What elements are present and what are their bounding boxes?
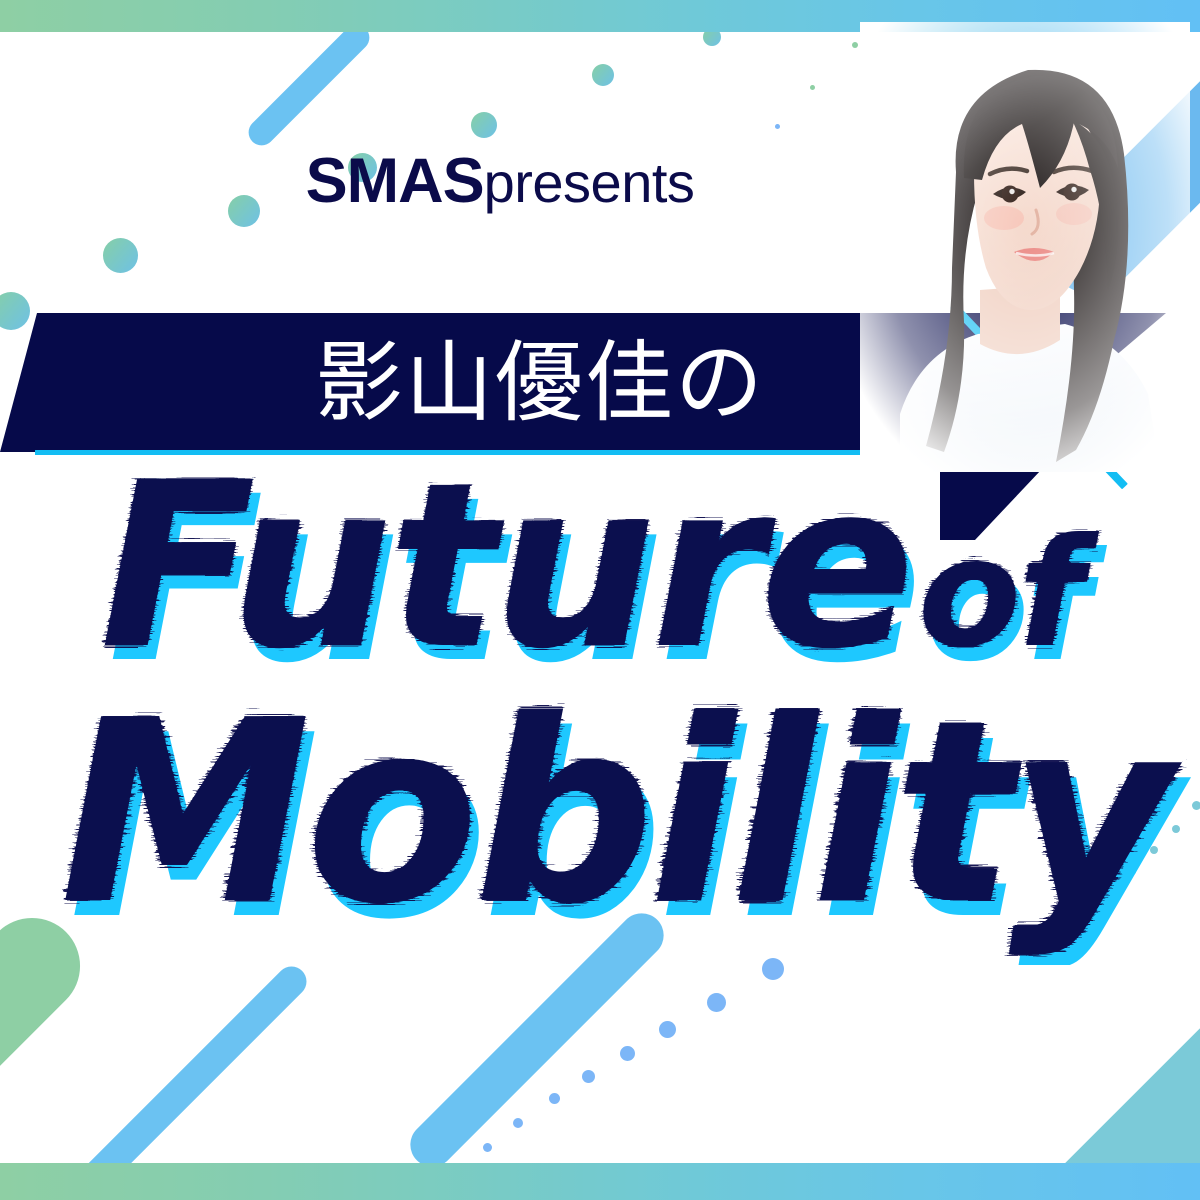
decor-dot-bottomcenter-6 [513,1118,523,1128]
decor-dot-accent-0 [852,42,858,48]
decor-dot-bottomcenter-5 [549,1093,560,1104]
svg-text:Future: Future [100,455,911,699]
poster-canvas: 影山優佳の SMASpresents Future of [0,0,1200,1200]
presenter-suffix: presents [484,151,695,214]
decor-dot-topleft-5 [103,238,138,273]
main-title-artwork: Future of Future of Future of Mobility M… [0,455,1200,965]
decor-dot-accent-1 [810,85,815,90]
decor-dot-topleft-2 [471,112,497,138]
decor-dot-bottomcenter-2 [659,1021,676,1038]
decor-dot-topleft-1 [592,64,614,86]
bottom-gradient-bar [0,1163,1200,1200]
decor-dot-bottomcenter-7 [483,1143,492,1152]
decor-dot-bottomcenter-4 [582,1070,595,1083]
decor-dot-bottomcenter-1 [707,993,726,1012]
decor-dot-bottomcenter-3 [620,1046,635,1061]
host-portrait-photo [860,22,1190,472]
presenter-brand: SMAS [306,146,484,216]
blue-stripe-top-left [243,19,375,151]
presenter-lockup: SMASpresents [0,145,1200,217]
decor-dot-accent-2 [775,124,780,129]
svg-text:Mobility: Mobility [60,667,1183,960]
